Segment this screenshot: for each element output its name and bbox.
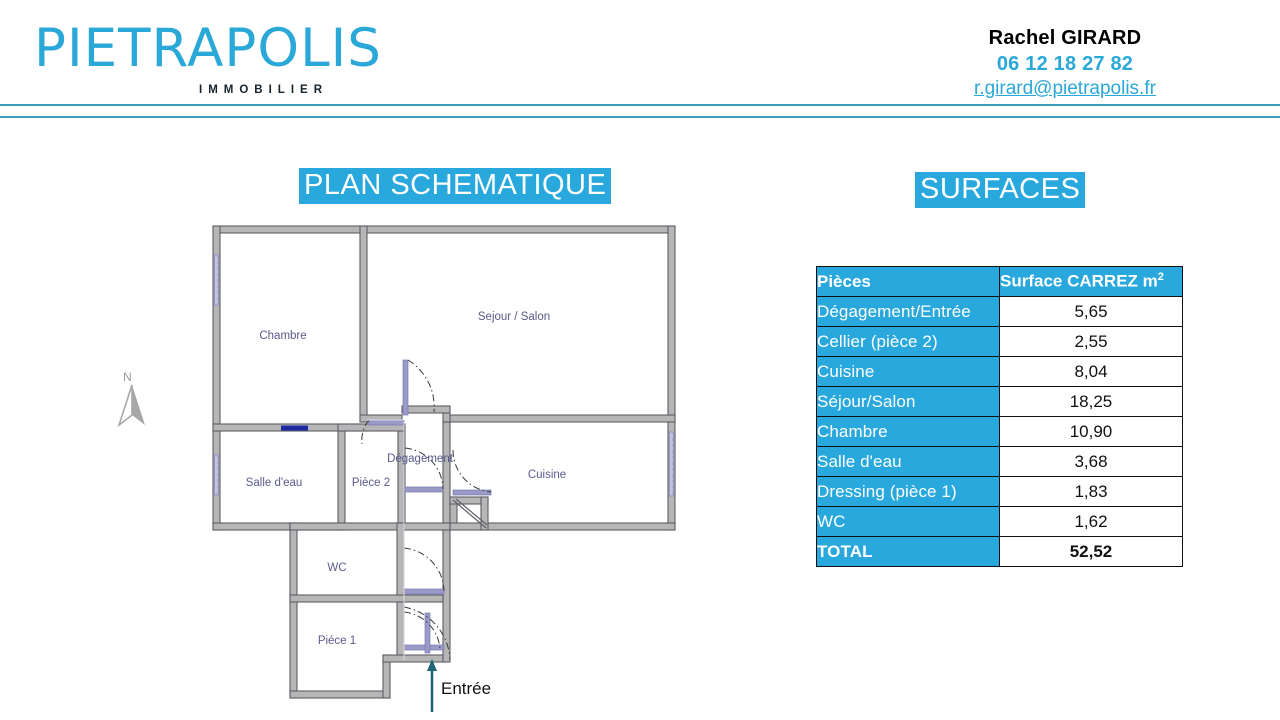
room-label-cuisine: Cuisine	[528, 469, 566, 481]
room-label-salledeau: Salle d'eau	[246, 477, 303, 489]
row-room: WC	[817, 507, 1000, 537]
surfaces-table: Pièces Surface CARREZ m2 Dégagement/Entr…	[816, 266, 1183, 567]
threshold-lines	[367, 420, 404, 660]
table-row: Salle d'eau 3,68	[817, 447, 1183, 477]
row-value: 1,83	[1000, 477, 1183, 507]
room-label-chambre: Chambre	[259, 330, 306, 342]
table-row: WC 1,62	[817, 507, 1183, 537]
page-header: PIETRAPOLIS IMMOBILIER Rachel GIRARD 06 …	[0, 0, 1280, 118]
agent-name: Rachel GIRARD	[880, 26, 1250, 51]
contact-block: Rachel GIRARD 06 12 18 27 82 r.girard@pi…	[880, 26, 1250, 101]
row-room: Salle d'eau	[817, 447, 1000, 477]
closet-hatch	[453, 499, 487, 528]
logo-wordmark: PIETRAPOLIS	[34, 22, 364, 75]
row-value: 5,65	[1000, 297, 1183, 327]
row-value: 2,55	[1000, 327, 1183, 357]
row-value: 8,04	[1000, 357, 1183, 387]
room-label-piece1: Piéce 1	[318, 635, 356, 647]
plan-doors	[362, 360, 491, 660]
brand-logo: PIETRAPOLIS IMMOBILIER	[34, 22, 364, 96]
row-value: 1,62	[1000, 507, 1183, 537]
north-arrow-icon	[119, 385, 145, 425]
table-row: Dressing (pièce 1) 1,83	[817, 477, 1183, 507]
compass-label: N	[123, 370, 132, 384]
room-label-degagement: Dégagement	[387, 453, 454, 465]
total-value: 52,52	[1000, 537, 1183, 567]
table-row: Chambre 10,90	[817, 417, 1183, 447]
table-row: Séjour/Salon 18,25	[817, 387, 1183, 417]
table-header-row: Pièces Surface CARREZ m2	[817, 267, 1183, 297]
agent-phone[interactable]: 06 12 18 27 82	[880, 51, 1250, 77]
entrance-label: Entrée	[441, 679, 491, 699]
row-room: Chambre	[817, 417, 1000, 447]
row-room: Dégagement/Entrée	[817, 297, 1000, 327]
room-label-piece2: Pièce 2	[352, 477, 390, 489]
row-room: Cellier (pièce 2)	[817, 327, 1000, 357]
row-value: 10,90	[1000, 417, 1183, 447]
plan-windows	[215, 255, 674, 496]
header-divider-bottom	[0, 116, 1280, 118]
table-row: Cellier (pièce 2) 2,55	[817, 327, 1183, 357]
table-total-row: TOTAL 52,52	[817, 537, 1183, 567]
row-value: 3,68	[1000, 447, 1183, 477]
surfaces-section-title: SURFACES	[915, 172, 1085, 208]
header-divider-top	[0, 104, 1280, 106]
header-surface: Surface CARREZ m2	[1000, 267, 1183, 297]
row-room: Cuisine	[817, 357, 1000, 387]
entrance-arrow-icon	[427, 659, 437, 712]
header-rooms: Pièces	[817, 267, 1000, 297]
room-label-wc: WC	[327, 562, 346, 574]
room-label-sejour: Sejour / Salon	[478, 311, 550, 323]
logo-subtitle: IMMOBILIER	[34, 84, 364, 96]
agent-email-link[interactable]: r.girard@pietrapolis.fr	[880, 77, 1250, 101]
room-labels: Chambre Sejour / Salon Dégagement Cuisin…	[246, 311, 566, 647]
row-room: Dressing (pièce 1)	[817, 477, 1000, 507]
row-room: Séjour/Salon	[817, 387, 1000, 417]
total-label: TOTAL	[817, 537, 1000, 567]
plan-walls	[213, 226, 675, 698]
header-surface-text: Surface CARREZ m	[1000, 272, 1158, 291]
table-row: Cuisine 8,04	[817, 357, 1183, 387]
table-row: Dégagement/Entrée 5,65	[817, 297, 1183, 327]
row-value: 18,25	[1000, 387, 1183, 417]
header-surface-exponent: 2	[1158, 271, 1164, 283]
plan-section-title: PLAN SCHEMATIQUE	[299, 168, 611, 204]
